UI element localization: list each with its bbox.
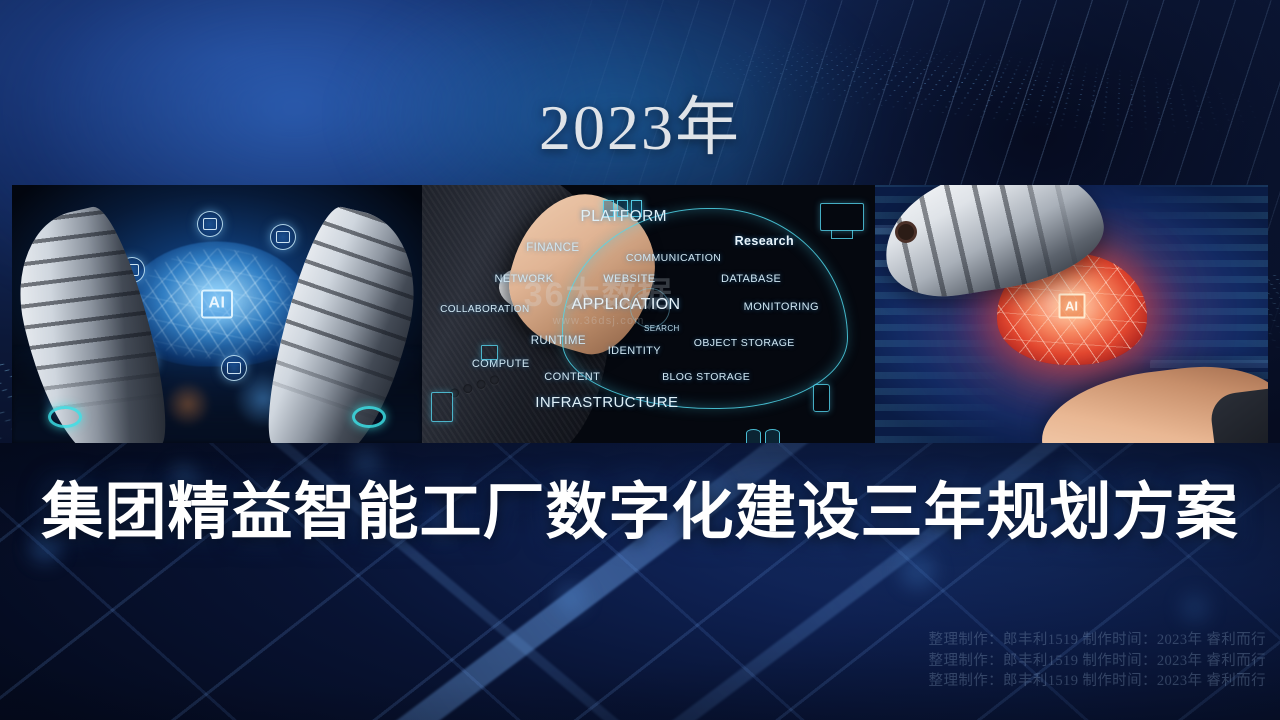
- hero-image-right: AI: [875, 185, 1268, 443]
- circle-icon: [197, 211, 223, 237]
- slide-year-label: 2023年: [0, 96, 1280, 160]
- circle-icon: [270, 224, 296, 250]
- cloud-term: COMMUNICATION: [626, 252, 721, 264]
- hero-image-band: AI PLATFORMResearchFINANCECOMMUNICATIONN…: [12, 185, 1268, 443]
- cloud-term: MONITORING: [744, 301, 819, 313]
- cloud-term: OBJECT STORAGE: [694, 337, 795, 349]
- presentation-slide: 2023年 AI: [0, 0, 1280, 720]
- hero-image-middle: PLATFORMResearchFINANCECOMMUNICATIONNETW…: [422, 185, 875, 443]
- cloud-word-map: PLATFORMResearchFINANCECOMMUNICATIONNETW…: [422, 185, 875, 443]
- cloud-term: WEBSITE: [603, 273, 655, 285]
- cloud-term: CONTENT: [544, 371, 600, 383]
- robot-wrist-ring-icon: [48, 406, 82, 428]
- cloud-term: PLATFORM: [581, 208, 667, 226]
- cloud-term: DATABASE: [721, 273, 781, 285]
- cloud-term: NETWORK: [494, 273, 553, 285]
- cloud-term: RUNTIME: [531, 335, 586, 347]
- credits-line: 整理制作：郎丰利1519 制作时间：2023年 睿利而行: [929, 630, 1266, 651]
- ai-chip-badge-left: AI: [201, 289, 233, 318]
- database-cylinders-icon: [746, 429, 780, 443]
- credits-block: 整理制作：郎丰利1519 制作时间：2023年 睿利而行 整理制作：郎丰利151…: [929, 630, 1266, 692]
- smartphone-icon: [813, 384, 830, 412]
- page-title: 集团精益智能工厂数字化建设三年规划方案: [18, 478, 1262, 547]
- ai-chip-badge-right: AI: [1058, 294, 1085, 319]
- credits-line: 整理制作：郎丰利1519 制作时间：2023年 睿利而行: [929, 651, 1266, 672]
- credits-line: 整理制作：郎丰利1519 制作时间：2023年 睿利而行: [929, 671, 1266, 692]
- cloud-term: SEARCH: [644, 324, 680, 333]
- cloud-term: APPLICATION: [571, 296, 680, 314]
- hero-image-left: AI: [12, 185, 422, 443]
- cloud-term: FINANCE: [526, 242, 579, 254]
- cloud-term: INFRASTRUCTURE: [535, 394, 678, 411]
- cloud-term: IDENTITY: [608, 345, 661, 357]
- cloud-term: BLOG STORAGE: [662, 371, 750, 383]
- square-node-icon: [481, 345, 498, 360]
- monitor-icon: [820, 203, 864, 231]
- robot-wrist-ring-icon: [352, 406, 386, 428]
- robot-joint-icon: [895, 221, 917, 243]
- tablet-icon: [431, 392, 453, 422]
- cloud-term: COLLABORATION: [440, 304, 529, 315]
- cloud-term: Research: [735, 234, 795, 248]
